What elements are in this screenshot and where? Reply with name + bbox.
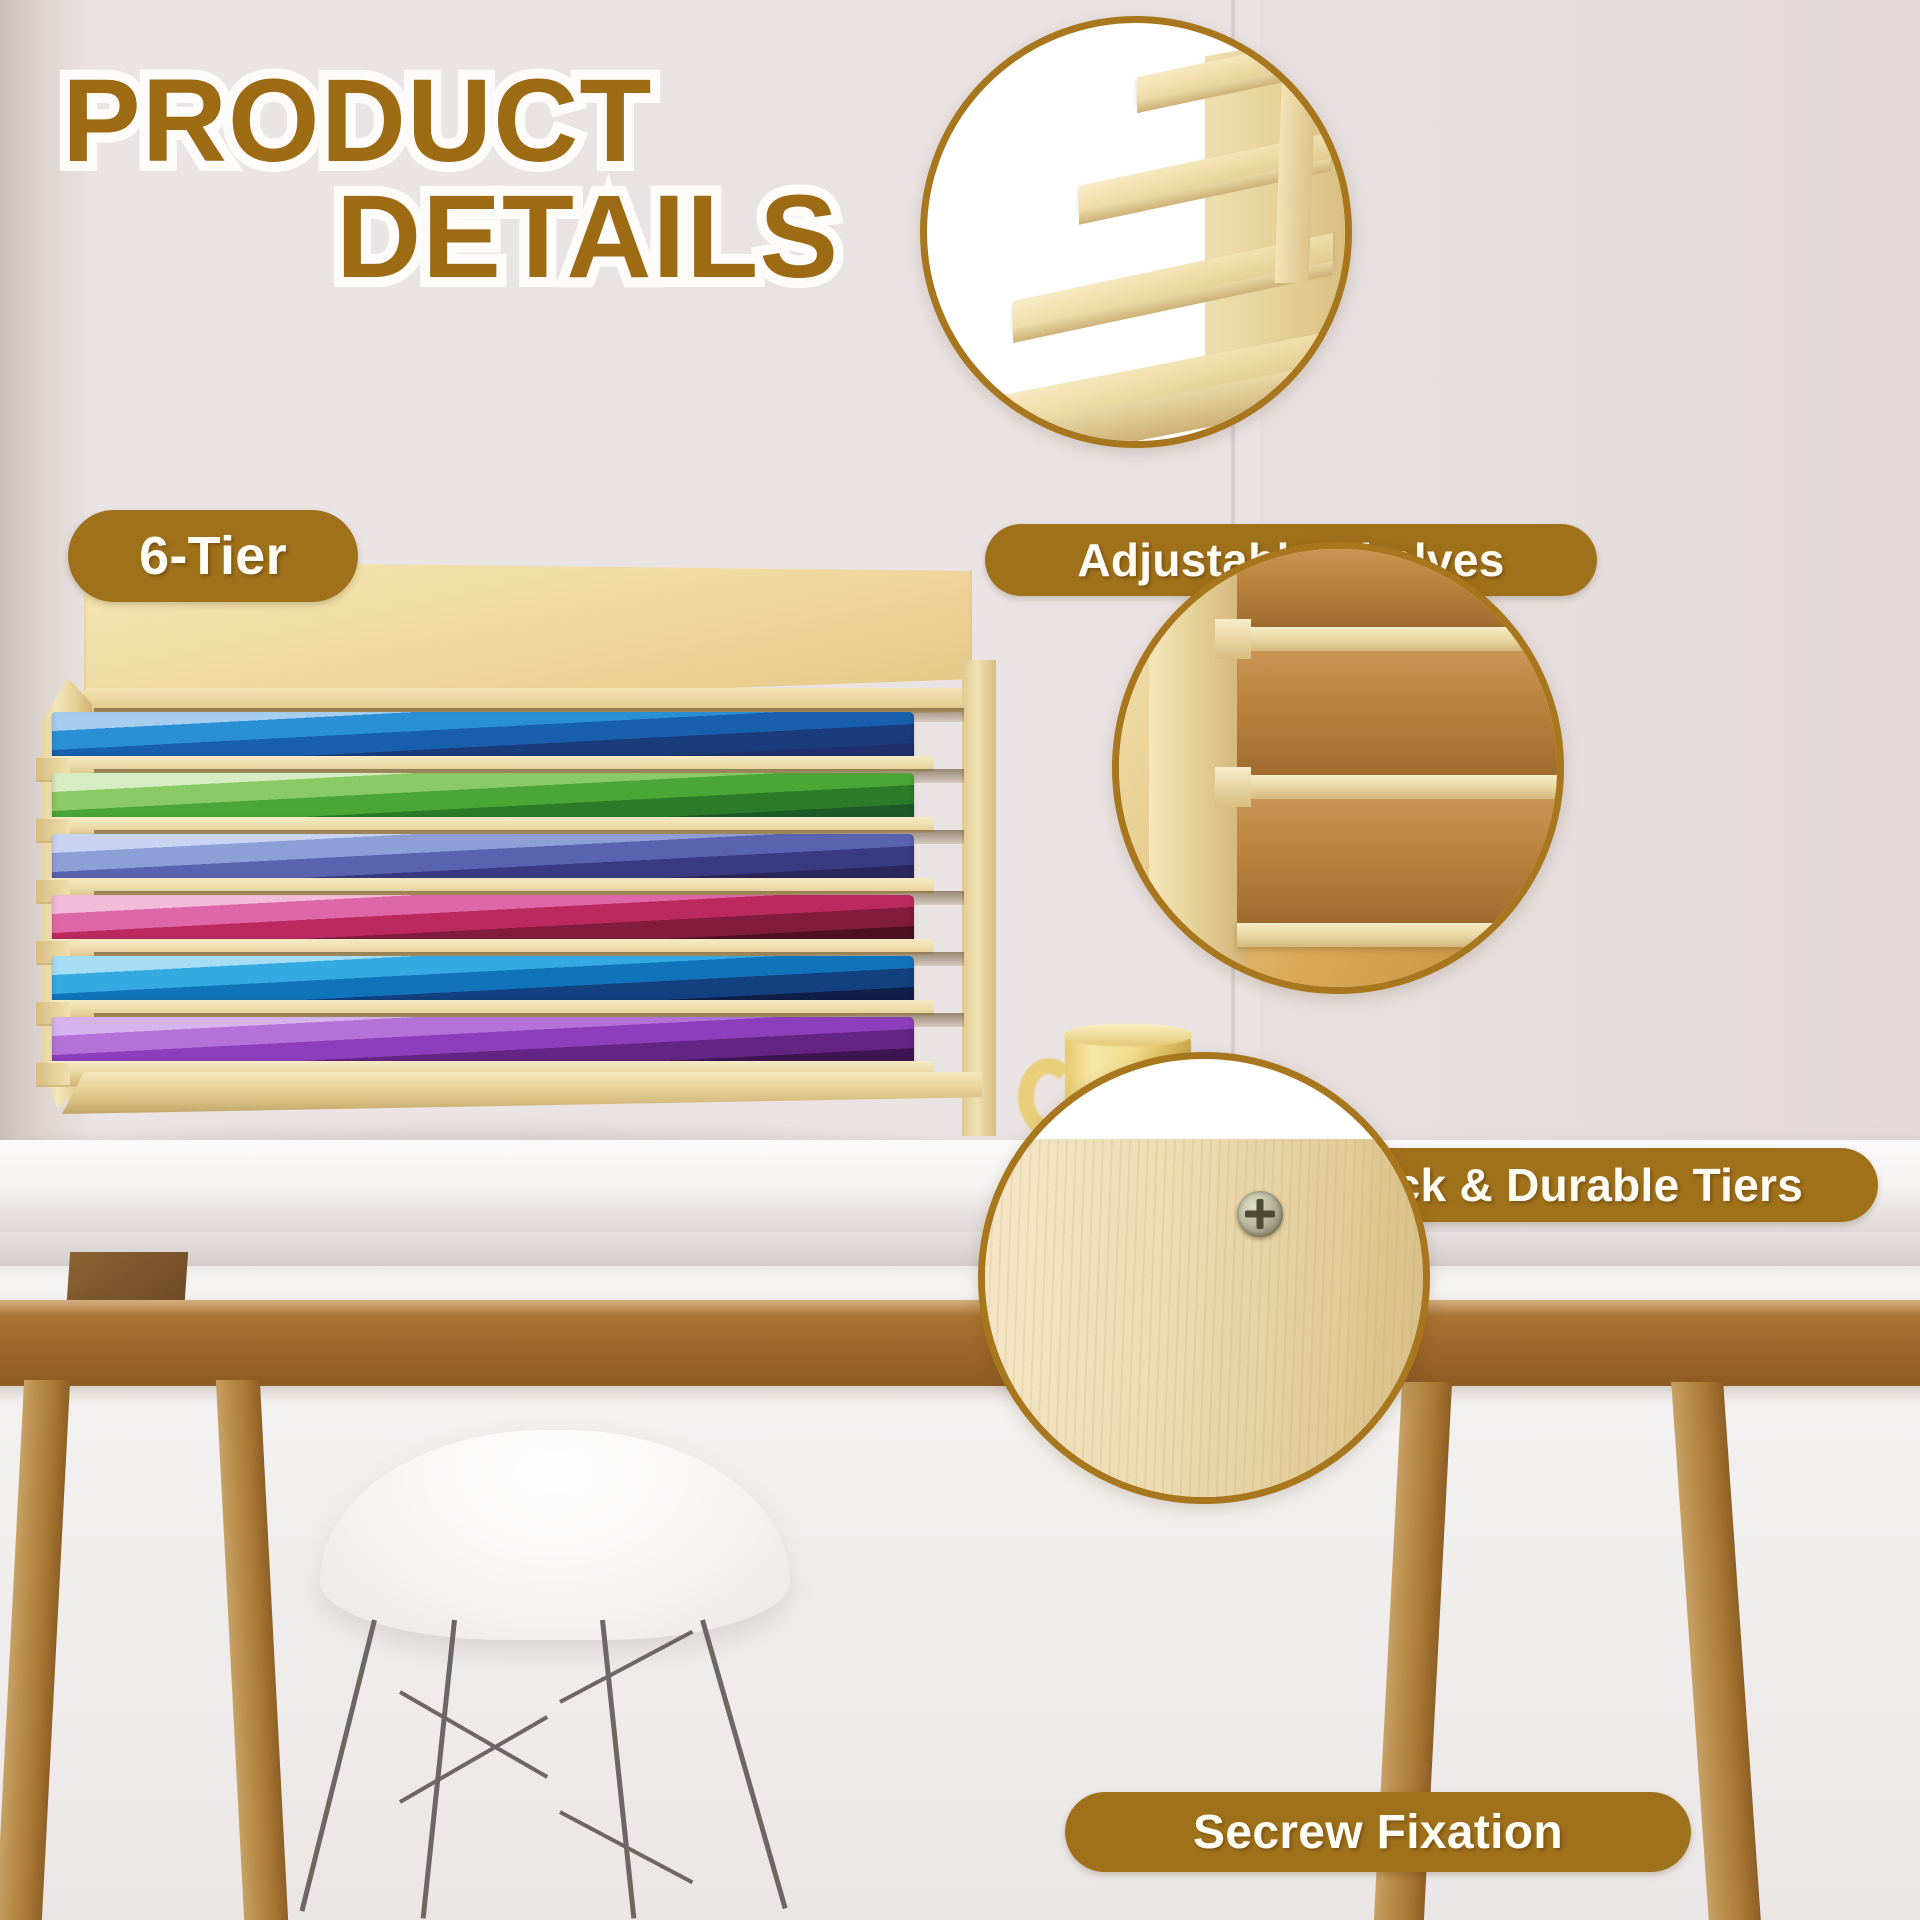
- tier-cavity: [1237, 799, 1564, 923]
- label-screw-fixation: Secrew Fixation: [1065, 1792, 1691, 1872]
- tier-shelf: [1237, 627, 1564, 651]
- organizer-right-post: [962, 660, 996, 1136]
- paper-organizer-product: [36, 560, 996, 1120]
- paper-stack-tier-1: [52, 712, 914, 762]
- organizer-base-board: [62, 1072, 982, 1114]
- detail-circle-adjustable-shelves: [920, 16, 1352, 448]
- paper-stack-tier-3: [52, 834, 914, 884]
- desk-edge: [0, 1232, 1920, 1266]
- shelf-rail-notch: [36, 1063, 70, 1085]
- tier-slot-notch: [1215, 619, 1251, 659]
- wood-panel-corner: [985, 1139, 1430, 1504]
- mug-rim: [1063, 1024, 1193, 1046]
- badge-tier-count: 6-Tier: [68, 510, 358, 602]
- paper-stack-tier-6: [52, 1017, 914, 1067]
- phillips-screw-icon: [1237, 1191, 1283, 1237]
- desk-apron-highlight: [0, 1300, 1920, 1316]
- tier-shelf: [1237, 923, 1564, 947]
- detail-circle-screw-fixation: [978, 1052, 1430, 1504]
- detail-circle-durable-tiers: [1112, 542, 1564, 994]
- tier-cavity: [1237, 651, 1564, 775]
- paper-stack-tier-5: [52, 956, 914, 1006]
- paper-stack-tier-4: [52, 895, 914, 945]
- paper-stack-tier-2: [52, 773, 914, 823]
- tier-cavity: [1237, 549, 1564, 627]
- product-details-infographic: PRODUCT DETAILS 6-Tier Adjustable Shelve…: [0, 0, 1920, 1920]
- tier-shelf: [1237, 775, 1564, 799]
- tier-slot-notch: [1215, 767, 1251, 807]
